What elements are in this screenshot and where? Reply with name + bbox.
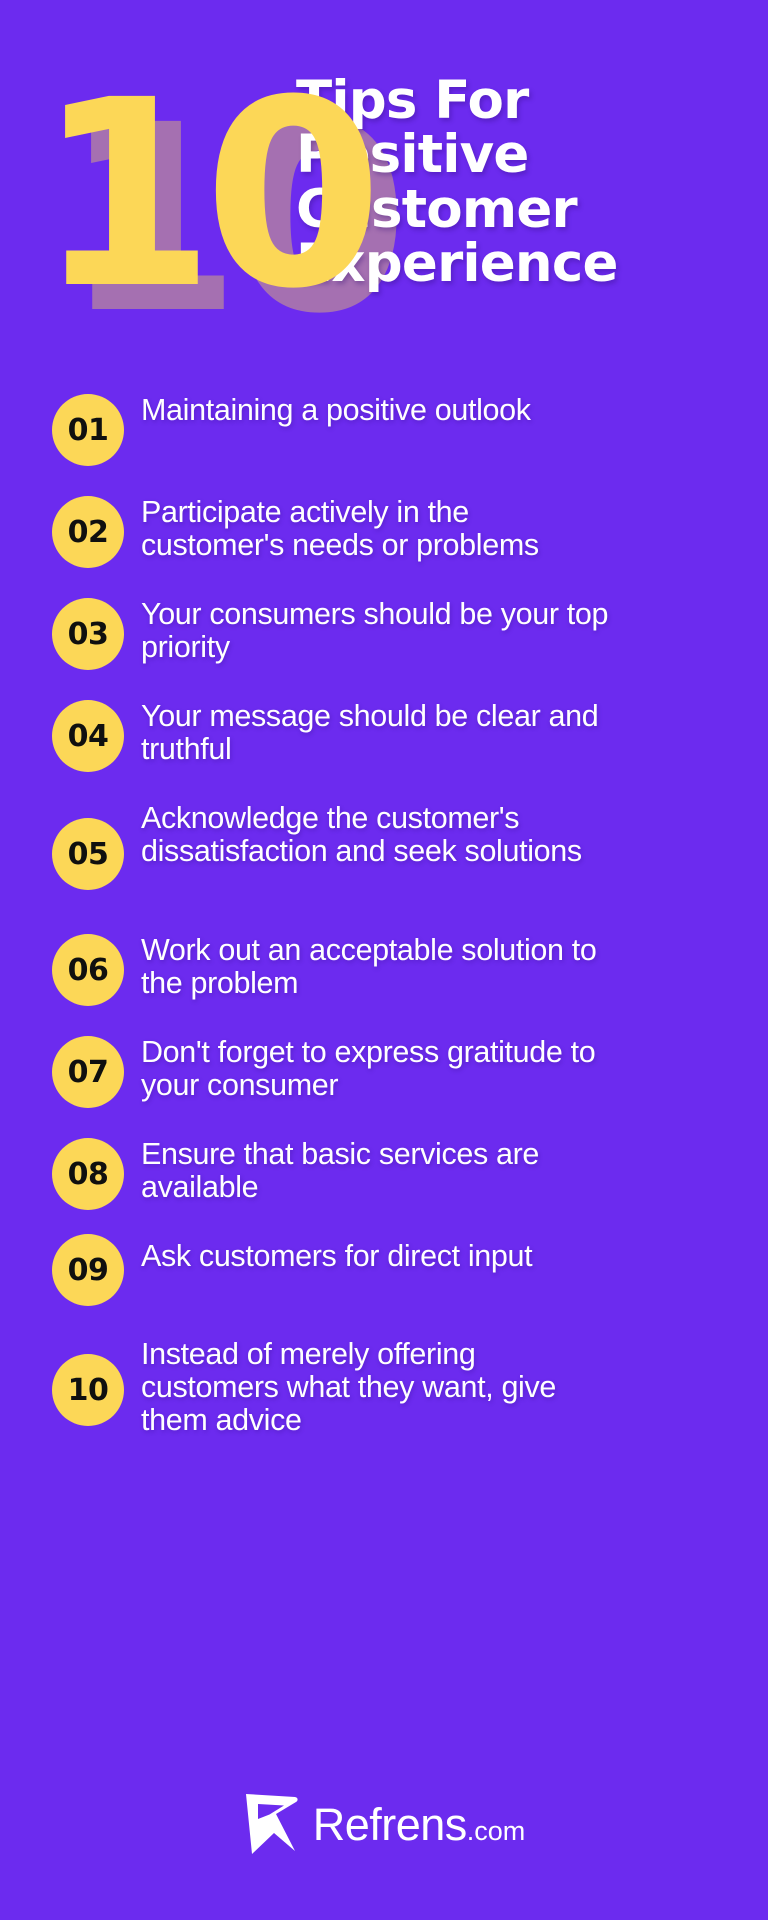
tip-text: Maintaining a positive outlook	[141, 388, 611, 427]
brand-tld: .com	[467, 1818, 526, 1845]
tip-text: Work out an acceptable solution to the p…	[141, 928, 611, 1000]
brand-name: Refrens	[313, 1802, 467, 1847]
tip-text: Instead of merely offering customers wha…	[141, 1332, 611, 1437]
tip-number-badge: 03	[52, 598, 124, 670]
list-item: 05 Acknowledge the customer's dissatisfa…	[0, 796, 768, 904]
tip-text: Acknowledge the customer's dissatisfacti…	[141, 796, 611, 868]
tip-text: Participate actively in the customer's n…	[141, 490, 611, 562]
tip-text: Ask customers for direct input	[141, 1234, 611, 1273]
tips-list: 01 Maintaining a positive outlook 02 Par…	[0, 388, 768, 1770]
tip-number-badge: 01	[52, 394, 124, 466]
tip-number-badge: 02	[52, 496, 124, 568]
tip-number-badge: 10	[52, 1354, 124, 1426]
refrens-wordmark: Refrens.com	[313, 1802, 526, 1847]
list-item: 03 Your consumers should be your top pri…	[0, 592, 768, 670]
list-item: 07 Don't forget to express gratitude to …	[0, 1030, 768, 1108]
list-item: 09 Ask customers for direct input	[0, 1234, 768, 1306]
tip-number-badge: 07	[52, 1036, 124, 1108]
refrens-r-mark-icon	[243, 1793, 299, 1855]
tip-text: Ensure that basic services are available	[141, 1132, 611, 1204]
tip-text: Your message should be clear and truthfu…	[141, 694, 611, 766]
list-item: 02 Participate actively in the customer'…	[0, 490, 768, 568]
big-number-graphic: 10 10	[36, 82, 306, 307]
big-number: 10	[36, 82, 371, 309]
tip-text: Your consumers should be your top priori…	[141, 592, 611, 664]
list-item: 06 Work out an acceptable solution to th…	[0, 928, 768, 1006]
poster-header: 10 10 Tips For Positive Customer Experie…	[0, 0, 768, 350]
tip-number-badge: 08	[52, 1138, 124, 1210]
list-item: 01 Maintaining a positive outlook	[0, 388, 768, 466]
tip-number-badge: 05	[52, 818, 124, 890]
poster-footer: Refrens.com	[0, 1770, 768, 1920]
tip-number-badge: 09	[52, 1234, 124, 1306]
list-item: 10 Instead of merely offering customers …	[0, 1332, 768, 1440]
infographic-poster: 10 10 Tips For Positive Customer Experie…	[0, 0, 768, 1920]
tip-text: Don't forget to express gratitude to you…	[141, 1030, 611, 1102]
tip-number-badge: 04	[52, 700, 124, 772]
tip-number-badge: 06	[52, 934, 124, 1006]
list-item: 08 Ensure that basic services are availa…	[0, 1132, 768, 1210]
list-item: 04 Your message should be clear and trut…	[0, 694, 768, 772]
refrens-logo[interactable]: Refrens.com	[243, 1793, 526, 1855]
